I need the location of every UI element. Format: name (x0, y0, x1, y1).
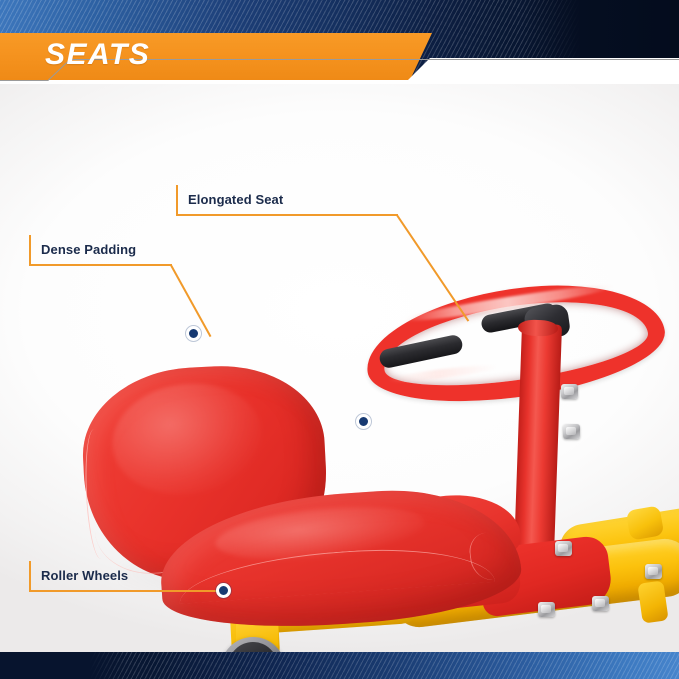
callout-tick-elongated-seat (176, 185, 178, 215)
callout-marker-elongated-seat[interactable] (356, 414, 371, 429)
callout-tick-roller-wheels (29, 561, 31, 591)
bolt-icon (592, 596, 609, 611)
footer-banner (0, 652, 679, 679)
bolt-icon (555, 541, 572, 556)
callout-tick-dense-padding (29, 235, 31, 265)
header-banner: SEATS (0, 0, 679, 84)
callout-marker-dense-padding[interactable] (186, 326, 201, 341)
handlebar-post (514, 323, 562, 556)
callout-underline-roller-wheels (29, 590, 224, 592)
callout-label-roller-wheels: Roller Wheels (41, 568, 128, 583)
handlebar-loop (359, 269, 671, 418)
callout-underline-dense-padding (29, 264, 172, 266)
frame-tab (637, 580, 668, 623)
handlebar-post-collar (518, 319, 559, 336)
bolt-icon (645, 564, 662, 579)
callout-marker-roller-wheels[interactable] (216, 583, 231, 598)
callout-label-elongated-seat: Elongated Seat (188, 192, 283, 207)
callout-underline-elongated-seat (176, 214, 398, 216)
page-title: SEATS (45, 38, 150, 72)
product-photo (0, 84, 679, 652)
bolt-icon (538, 602, 555, 617)
bolt-icon (561, 384, 578, 399)
callout-label-dense-padding: Dense Padding (41, 242, 136, 257)
screenshot-root: SEATS (0, 0, 679, 679)
bolt-icon (563, 424, 580, 439)
footer-solid-left-block (0, 652, 128, 679)
